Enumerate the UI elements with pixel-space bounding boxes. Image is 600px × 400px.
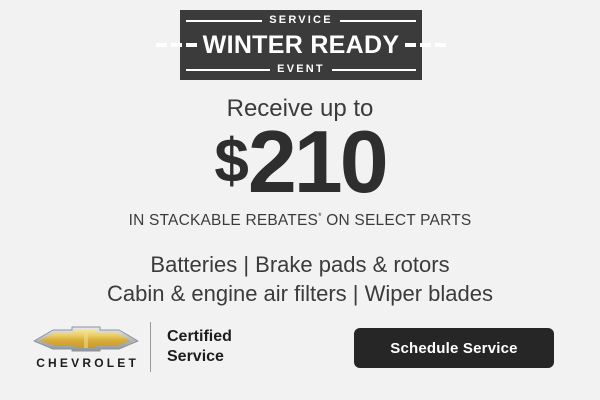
badge-rule-right-bottom [332, 69, 416, 71]
badge-title-row: WINTER READY [186, 33, 416, 58]
badge-kicker-top: SERVICE [262, 15, 340, 26]
badge-kicker-bottom: EVENT [270, 64, 332, 75]
schedule-service-button[interactable]: Schedule Service [354, 328, 554, 368]
badge-title: WINTER READY [203, 33, 400, 58]
disclaimer-text: IN STACKABLE REBATES [129, 212, 318, 229]
service-offer-ad: SERVICE WINTER READY EVENT Receive up to… [0, 0, 600, 400]
disclaimer-tail: ON SELECT PARTS [322, 212, 472, 229]
eligible-parts-list: Batteries | Brake pads & rotors Cabin & … [0, 250, 600, 308]
chevrolet-bowtie-icon [33, 326, 139, 352]
offer-disclaimer: IN STACKABLE REBATES* ON SELECT PARTS [0, 212, 600, 231]
currency-symbol: $ [214, 127, 247, 196]
certified-service-label: Certified Service [167, 327, 232, 367]
certified-line-1: Certified [167, 327, 232, 347]
badge-rule-left-top [186, 20, 262, 22]
amount-value: 210 [248, 112, 386, 211]
bowtie-center-highlight [84, 330, 88, 348]
parts-line-1: Batteries | Brake pads & rotors [0, 250, 600, 279]
badge-rule-right-top [340, 20, 416, 22]
brand-divider [150, 322, 151, 372]
chevrolet-wordmark: CHEVROLET [33, 357, 139, 369]
badge-dashes-left [150, 43, 203, 47]
badge-top-row: SERVICE [186, 15, 416, 26]
chevrolet-logo: CHEVROLET [30, 326, 142, 369]
winter-ready-event-badge: SERVICE WINTER READY EVENT [180, 10, 422, 80]
certified-line-2: Service [167, 347, 232, 367]
badge-rule-left-bottom [186, 69, 270, 71]
chevrolet-certified-service-lockup: CHEVROLET Certified Service [30, 322, 232, 372]
badge-bottom-row: EVENT [186, 64, 416, 75]
parts-line-2: Cabin & engine air filters | Wiper blade… [0, 279, 600, 308]
ad-footer: CHEVROLET Certified Service Schedule Ser… [0, 318, 600, 380]
badge-dashes-right [399, 43, 452, 47]
offer-amount: $210 [0, 118, 600, 206]
